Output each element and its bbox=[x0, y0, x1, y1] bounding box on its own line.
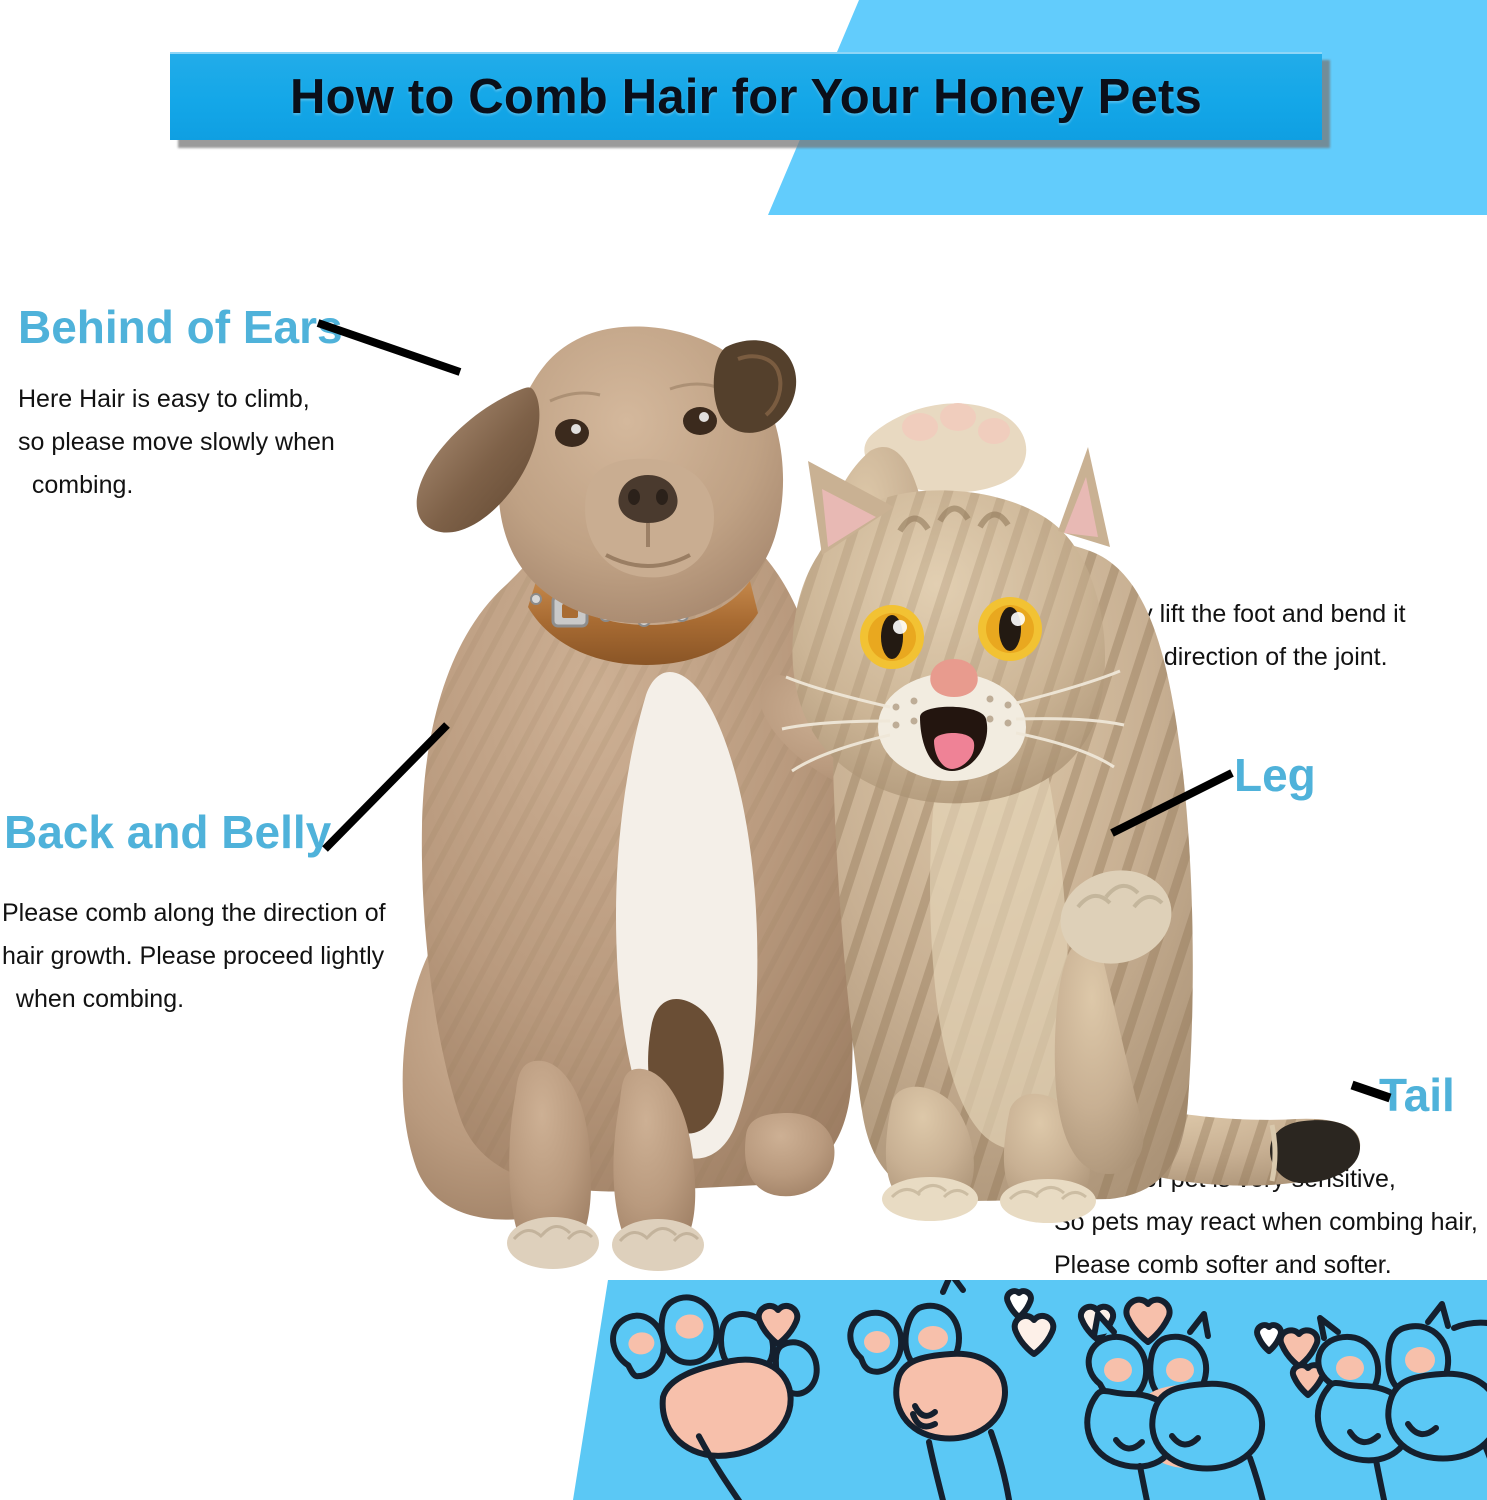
callout-line: so please move slowly when bbox=[18, 421, 335, 464]
infographic-canvas: How to Comb Hair for Your Honey Pets bbox=[0, 0, 1487, 1500]
callout-heading-behind-of-ears: Behind of Ears bbox=[18, 300, 343, 354]
bottom-decorative-banner bbox=[0, 1280, 1487, 1500]
page-title: How to Comb Hair for Your Honey Pets bbox=[290, 69, 1202, 125]
cat-illustration bbox=[782, 403, 1360, 1223]
callout-heading-tail: Tail bbox=[1379, 1068, 1455, 1122]
callout-heading-back-and-belly: Back and Belly bbox=[4, 805, 331, 859]
callout-body-behind-of-ears: Here Hair is easy to climb, so please mo… bbox=[18, 378, 335, 507]
pets-photo bbox=[310, 255, 1380, 1300]
callout-line: combing. bbox=[18, 464, 335, 507]
title-bar: How to Comb Hair for Your Honey Pets bbox=[170, 52, 1322, 140]
callout-line: Here Hair is easy to climb, bbox=[18, 378, 335, 421]
